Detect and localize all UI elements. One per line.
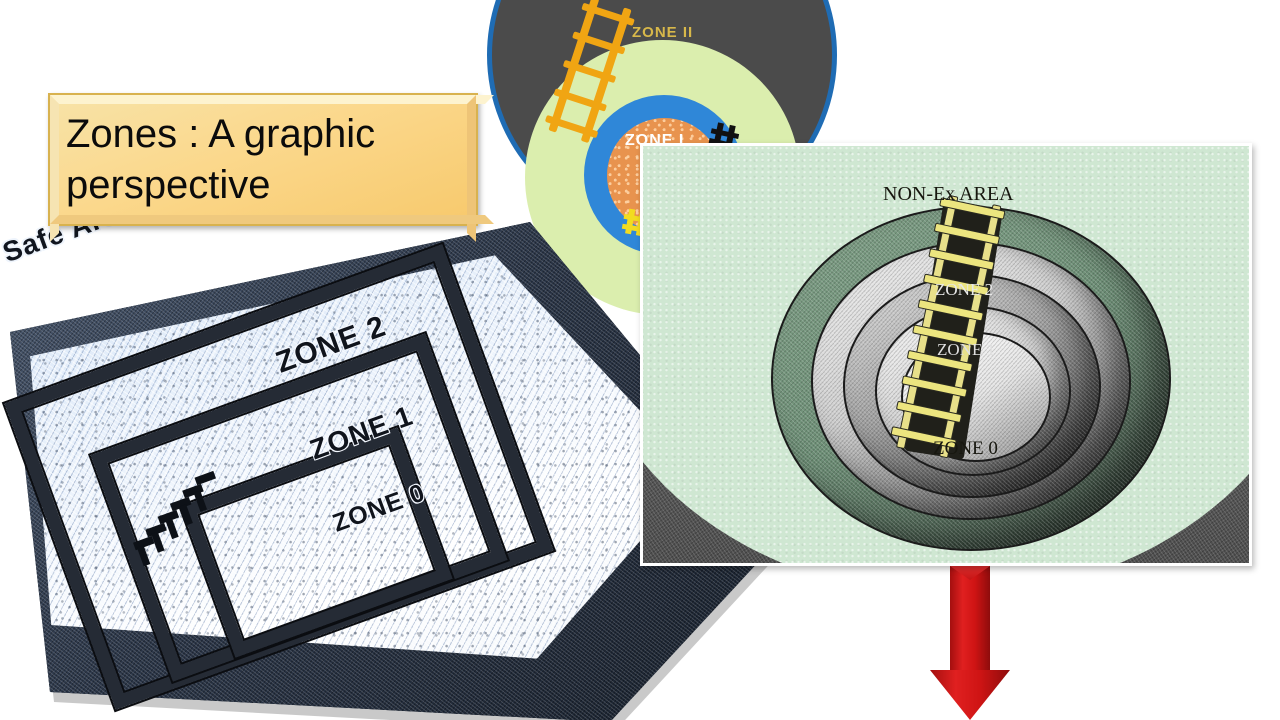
page-title: Zones : A graphic perspective [66, 109, 462, 211]
top-diagram-zone-2-label: ZONE II [632, 24, 693, 41]
title-bevel-bottom [50, 215, 494, 224]
pit-zone-1-label: ZONE 1 [937, 340, 995, 360]
non-ex-area-label: NON-Ex AREA [883, 183, 1014, 206]
title-line-1: Zones : A graphic [66, 112, 375, 156]
title-line-2: perspective [66, 163, 271, 207]
down-arrow [930, 566, 1010, 720]
pit-zone-0-label: ZONE 0 [933, 438, 998, 460]
arrow-head [930, 670, 1010, 720]
arrow-shaft [950, 566, 990, 674]
pit-zone-2-label: ZONE 2 [935, 280, 993, 300]
slide-canvas: ZONE II ZONE I Sa [0, 0, 1280, 720]
title-bevel-top [50, 95, 494, 104]
slide-title-box: Zones : A graphic perspective [48, 93, 478, 226]
ex-zone-pit-drawing: NON-Ex AREA ZONE 2 ZONE 1 ZONE 0 [640, 143, 1252, 566]
